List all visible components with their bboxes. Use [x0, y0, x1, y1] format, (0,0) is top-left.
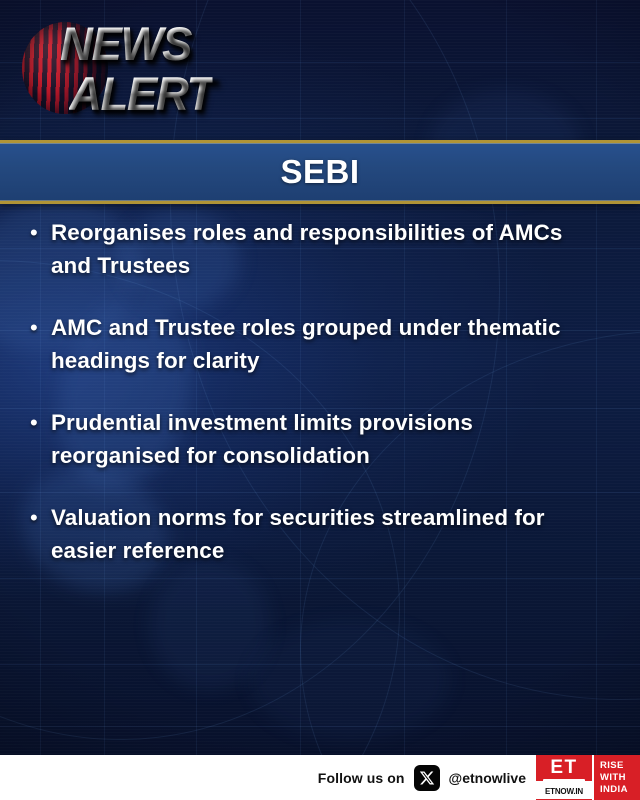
follow-label: Follow us on [318, 770, 405, 786]
bullet-marker-icon: • [30, 406, 51, 439]
bullet-list: • Reorganises roles and responsibilities… [0, 216, 640, 596]
footer-bar: Follow us on @etnowlive ET NOW ETNOW.IN … [0, 755, 640, 800]
x-twitter-icon[interactable] [414, 765, 440, 791]
tagline-line-3: INDIA [600, 784, 640, 795]
news-alert-wordmark: NEWS ALERT [60, 20, 217, 117]
et-wordmark: ET [550, 758, 577, 777]
etnow-website-strip: ETNOW.IN [536, 781, 592, 799]
etnow-logo-mark: ET NOW ETNOW.IN [536, 755, 592, 800]
bullet-marker-icon: • [30, 501, 51, 534]
etnow-tagline: RISE WITH INDIA [592, 755, 640, 800]
logo-line-news: NEWS [60, 20, 213, 67]
bullet-text: Reorganises roles and responsibilities o… [51, 216, 599, 282]
social-handle[interactable]: @etnowlive [449, 770, 526, 786]
logo-line-alert: ALERT [69, 70, 213, 117]
tagline-line-1: RISE [600, 760, 640, 771]
list-item: • AMC and Trustee roles grouped under th… [30, 311, 616, 377]
tagline-line-2: WITH [600, 772, 640, 783]
headline-bar: SEBI [0, 140, 640, 204]
follow-us-group: Follow us on @etnowlive [318, 765, 526, 791]
bullet-marker-icon: • [30, 216, 51, 249]
bullet-marker-icon: • [30, 311, 51, 344]
etnow-logo[interactable]: ET NOW ETNOW.IN RISE WITH INDIA [536, 755, 640, 800]
news-alert-card: NEWS ALERT SEBI • Reorganises roles and … [0, 0, 640, 800]
bullet-text: AMC and Trustee roles grouped under them… [51, 311, 599, 377]
bullet-text: Prudential investment limits provisions … [51, 406, 599, 472]
page-title: SEBI [280, 153, 359, 191]
list-item: • Valuation norms for securities streaml… [30, 501, 616, 567]
etnow-website-text: ETNOW.IN [545, 787, 583, 796]
bullet-text: Valuation norms for securities streamlin… [51, 501, 599, 567]
list-item: • Prudential investment limits provision… [30, 406, 616, 472]
list-item: • Reorganises roles and responsibilities… [30, 216, 616, 282]
news-alert-logo: NEWS ALERT [22, 14, 222, 126]
